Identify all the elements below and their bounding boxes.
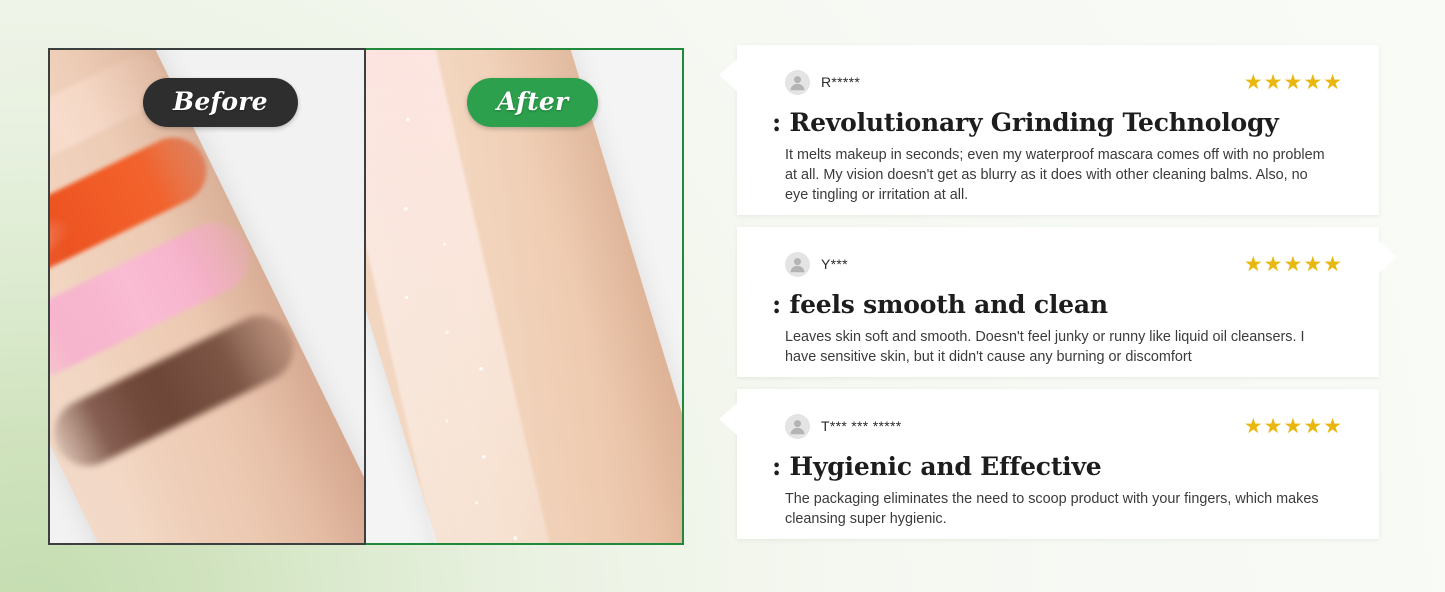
swatch-pink	[48, 211, 260, 387]
page-background: Before After	[0, 0, 1445, 592]
avatar-icon	[785, 414, 810, 439]
star-rating: ★★★★★	[1244, 254, 1343, 275]
review-header: R***** ★★★★★	[785, 67, 1343, 97]
review-list: R***** ★★★★★ : Revolutionary Grinding Te…	[737, 45, 1379, 539]
reviewer-info: R*****	[785, 70, 860, 95]
review-body: It melts makeup in seconds; even my wate…	[785, 145, 1330, 205]
reviewer-name: R*****	[821, 74, 860, 90]
swatch-brown	[48, 305, 304, 477]
star-rating: ★★★★★	[1244, 416, 1343, 437]
speech-bubble-tail-icon	[719, 59, 737, 91]
review-card: T*** *** ***** ★★★★★ : Hygienic and Effe…	[737, 389, 1379, 539]
swatch-orange-red	[48, 127, 217, 299]
review-body: The packaging eliminates the need to sco…	[785, 489, 1330, 529]
review-header: Y*** ★★★★★	[785, 249, 1343, 279]
speech-bubble-tail-icon	[719, 403, 737, 435]
reviewer-name: Y***	[821, 256, 848, 272]
review-card: Y*** ★★★★★ : feels smooth and clean Leav…	[737, 227, 1379, 377]
review-card: R***** ★★★★★ : Revolutionary Grinding Te…	[737, 45, 1379, 215]
review-body: Leaves skin soft and smooth. Doesn't fee…	[785, 327, 1330, 367]
before-badge: Before	[143, 78, 298, 127]
reviewer-info: T*** *** *****	[785, 414, 901, 439]
before-after-comparison: Before After	[48, 48, 684, 545]
speech-bubble-tail-icon	[1379, 241, 1397, 273]
star-rating: ★★★★★	[1244, 72, 1343, 93]
avatar-icon	[785, 252, 810, 277]
avatar-icon	[785, 70, 810, 95]
reviewer-name: T*** *** *****	[821, 418, 901, 434]
review-title: : Revolutionary Grinding Technology	[772, 108, 1343, 137]
before-image-panel: Before	[48, 48, 366, 545]
after-badge: After	[467, 78, 598, 127]
review-header: T*** *** ***** ★★★★★	[785, 411, 1343, 441]
swatch-nude-shimmer	[48, 48, 174, 209]
review-title: : feels smooth and clean	[772, 290, 1343, 319]
after-image-panel: After	[366, 48, 684, 545]
reviewer-info: Y***	[785, 252, 848, 277]
review-title: : Hygienic and Effective	[772, 452, 1343, 481]
